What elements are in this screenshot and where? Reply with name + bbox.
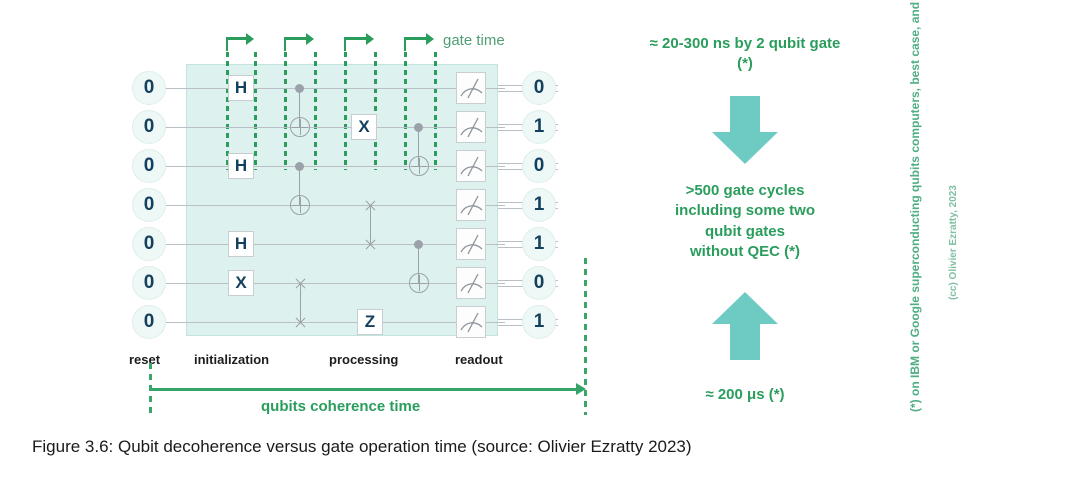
- top-note-line-1: ≈ 20-300 ns by 2 qubit gate: [600, 34, 890, 54]
- stage-label-readout: readout: [455, 352, 503, 367]
- footnote-vertical: (*) on IBM or Google superconducting qub…: [908, 0, 922, 412]
- input-bit-5: 0: [132, 266, 166, 300]
- measure-icon-q5: [456, 267, 486, 299]
- top-note-line-2: (*): [600, 54, 890, 74]
- stage-label-reset: reset: [129, 352, 160, 367]
- middle-note: >500 gate cycles including some two qubi…: [610, 181, 880, 262]
- gate-time-dash-4-right: [434, 52, 437, 170]
- gate-time-arrow-2: [284, 33, 316, 51]
- gate-h-q4: H: [228, 231, 254, 257]
- figure-3-6: gate time 0 0 0 0 0 0 0 0 1 0 1 1 0 1: [0, 0, 1080, 484]
- output-bit-5: 0: [522, 266, 556, 300]
- gate-time-arrow-4: [404, 33, 436, 51]
- output-bit-6: 1: [522, 305, 556, 339]
- output-bit-0: 0: [522, 71, 556, 105]
- measure-icon-q1: [456, 111, 486, 143]
- output-bit-1: 1: [522, 110, 556, 144]
- middle-note-line-1: >500 gate cycles: [610, 181, 880, 201]
- stage-label-initialization: initialization: [194, 352, 269, 367]
- gate-time-label: gate time: [443, 32, 505, 49]
- swap-node-q6: [294, 316, 307, 329]
- measure-icon-q2: [456, 150, 486, 182]
- coherence-time-label: qubits coherence time: [261, 398, 420, 415]
- coherence-arrow-line: [152, 388, 582, 391]
- output-bit-2: 0: [522, 149, 556, 183]
- arrow-down-icon: [712, 96, 778, 164]
- cnot-target-q2: [409, 156, 429, 176]
- input-bit-4: 0: [132, 227, 166, 261]
- input-bit-1: 0: [132, 110, 166, 144]
- gate-h-q0: H: [228, 75, 254, 101]
- measure-icon-q0: [456, 72, 486, 104]
- gate-time-dash-3-right: [374, 52, 377, 170]
- top-note: ≈ 20-300 ns by 2 qubit gate (*): [600, 34, 890, 75]
- cnot-target-q3: [290, 195, 310, 215]
- measure-icon-q4: [456, 228, 486, 260]
- gate-time-dash-3-left: [344, 52, 347, 170]
- bottom-note: ≈ 200 μs (*): [610, 385, 880, 405]
- middle-note-line-3: qubit gates: [610, 222, 880, 242]
- gate-time-arrow-1: [226, 33, 256, 51]
- credit-vertical: (cc) Olivier Ezratty, 2023: [948, 185, 959, 300]
- input-bit-2: 0: [132, 149, 166, 183]
- gate-time-dash-1-right: [254, 52, 257, 170]
- measure-icon-q3: [456, 189, 486, 221]
- gate-time-dash-2-right: [314, 52, 317, 170]
- stage-label-processing: processing: [329, 352, 398, 367]
- gate-time-dash-4-left: [404, 52, 407, 170]
- input-bit-3: 0: [132, 188, 166, 222]
- gate-time-dash-2-left: [284, 52, 287, 170]
- arrow-up-icon: [712, 292, 778, 360]
- input-bit-6: 0: [132, 305, 166, 339]
- cnot-target-q5: [409, 273, 429, 293]
- figure-caption: Figure 3.6: Qubit decoherence versus gat…: [32, 437, 1052, 457]
- gate-x-q1: X: [351, 114, 377, 140]
- middle-note-line-4: without QEC (*): [610, 242, 880, 262]
- gate-z-q6: Z: [357, 309, 383, 335]
- input-bit-0: 0: [132, 71, 166, 105]
- measure-icon-q6: [456, 306, 486, 338]
- output-bit-4: 1: [522, 227, 556, 261]
- cnot-target-q1: [290, 117, 310, 137]
- gate-h-q2: H: [228, 153, 254, 179]
- coherence-arrow-head: [576, 383, 586, 395]
- output-bit-3: 1: [522, 188, 556, 222]
- gate-x-q5: X: [228, 270, 254, 296]
- middle-note-line-2: including some two: [610, 201, 880, 221]
- gate-time-arrow-3: [344, 33, 376, 51]
- swap-node-q4: [364, 238, 377, 251]
